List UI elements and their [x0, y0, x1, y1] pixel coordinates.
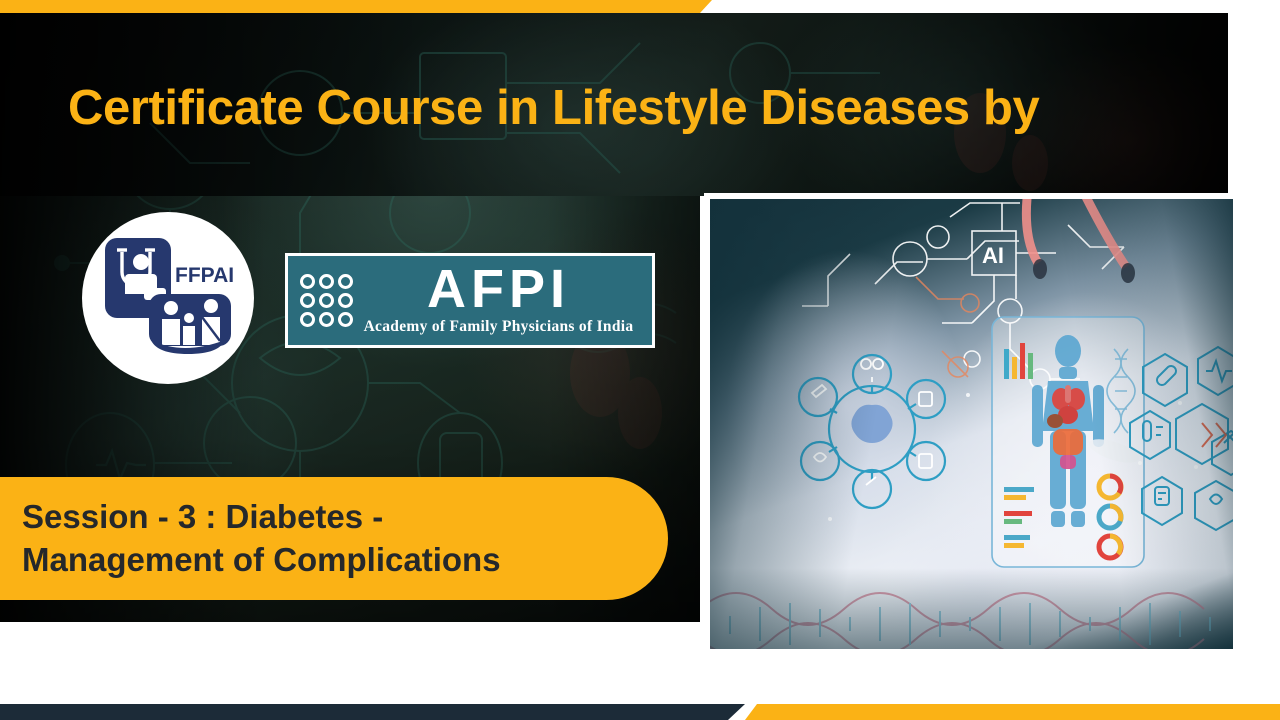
page-title: Certificate Course in Lifestyle Diseases…: [68, 83, 1218, 135]
title-band: Certificate Course in Lifestyle Diseases…: [0, 13, 1228, 196]
doctor-photo: AI: [710, 199, 1233, 649]
top-accent-bar: [0, 0, 712, 13]
slide-canvas: Certificate Course in Lifestyle Diseases…: [0, 0, 1280, 720]
afpi-tagline: Academy of Family Physicians of India: [364, 318, 634, 336]
bottom-left-accent-bar: [0, 704, 745, 720]
ffpai-logo-mark: FFPAI: [103, 236, 233, 360]
session-title-line-1: Session - 3 : Diabetes -: [22, 496, 626, 538]
afpi-logo: AFPI Academy of Family Physicians of Ind…: [285, 253, 655, 348]
session-banner: Session - 3 : Diabetes - Management of C…: [0, 477, 668, 600]
afpi-dot-grid-icon: [300, 274, 353, 327]
doctor-photo-card: AI: [704, 193, 1239, 655]
svg-text:FFPAI: FFPAI: [175, 264, 233, 287]
session-title-line-2: Management of Complications: [22, 539, 626, 581]
afpi-wordmark: AFPI: [427, 265, 570, 315]
bottom-right-accent-bar: [745, 704, 1280, 720]
ffpai-logo: FFPAI: [82, 212, 254, 384]
doctor-photo-vignette: [710, 199, 1233, 649]
